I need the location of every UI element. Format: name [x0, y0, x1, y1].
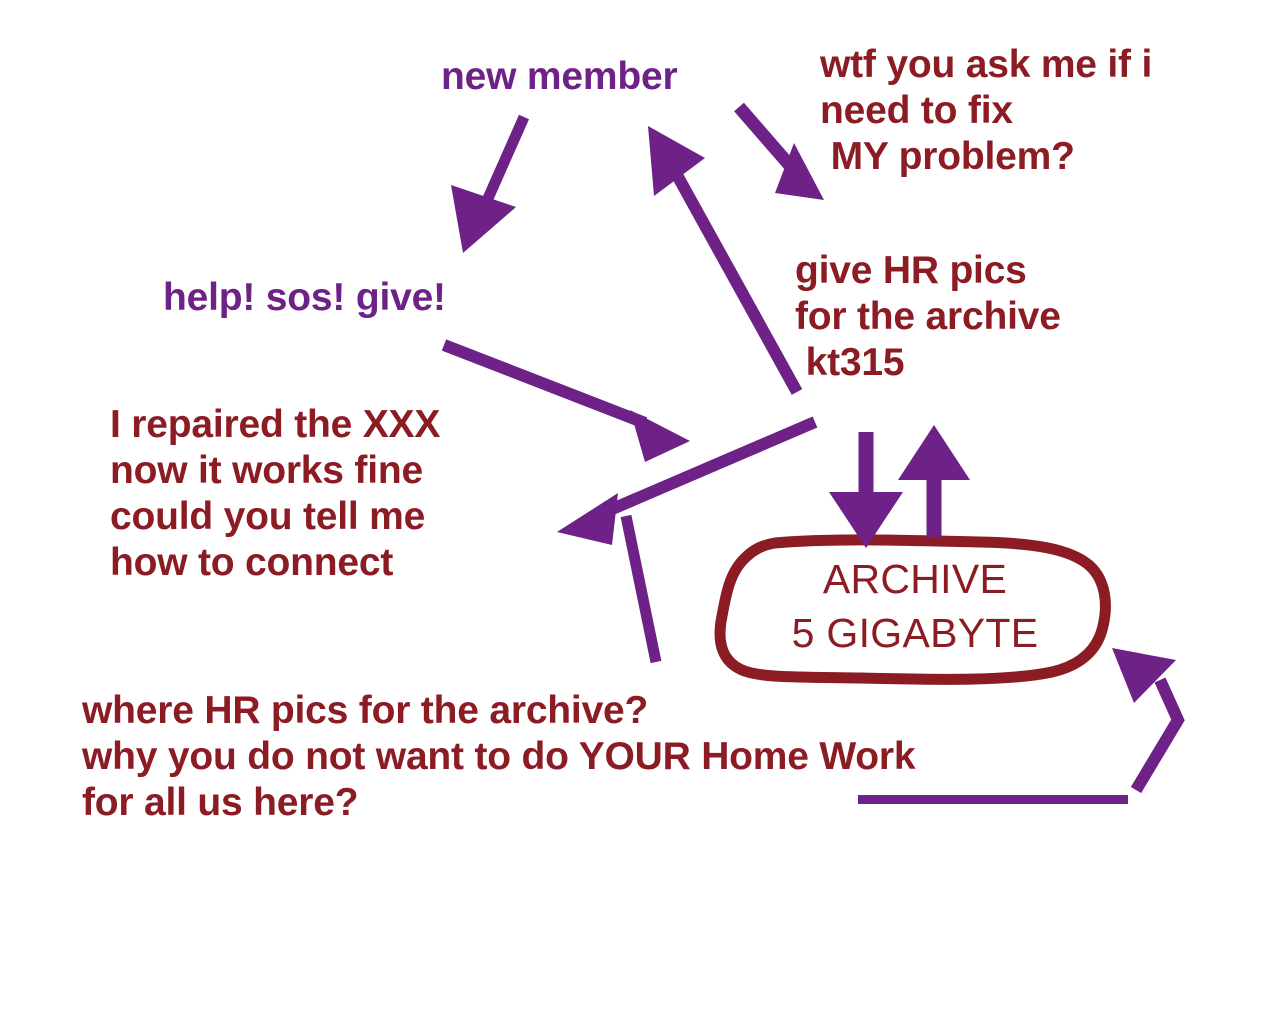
- label-wtf-you-ask-me: wtf you ask me if i need to fix MY probl…: [820, 42, 1152, 180]
- arrow-homework-bent-to-archive: [1112, 648, 1178, 790]
- arrow-kt315-up-left-long: [648, 126, 797, 392]
- arrow-new-member-down-right: [739, 107, 824, 200]
- arrow-give-hr-down-left: [557, 422, 815, 545]
- home-work-underline: [858, 795, 1128, 804]
- connector-line-to-where-hr: [626, 516, 656, 662]
- meme-canvas: new member wtf you ask me if i need to f…: [0, 0, 1280, 1024]
- label-archive-5-gigabyte: ARCHIVE 5 GIGABYTE: [755, 552, 1075, 660]
- arrow-kt315-down-to-archive: [829, 432, 903, 548]
- label-give-hr-pics: give HR pics for the archive kt315: [795, 248, 1061, 386]
- arrow-new-member-down-left: [451, 117, 524, 253]
- arrow-help-sos-down-right: [444, 345, 690, 462]
- label-new-member: new member: [441, 54, 677, 100]
- label-where-hr-pics: where HR pics for the archive? why you d…: [82, 688, 915, 826]
- arrow-archive-up-to-kt315: [898, 425, 970, 538]
- label-help-sos-give: help! sos! give!: [163, 275, 446, 321]
- label-i-repaired-the-xxx: I repaired the XXX now it works fine cou…: [110, 402, 440, 586]
